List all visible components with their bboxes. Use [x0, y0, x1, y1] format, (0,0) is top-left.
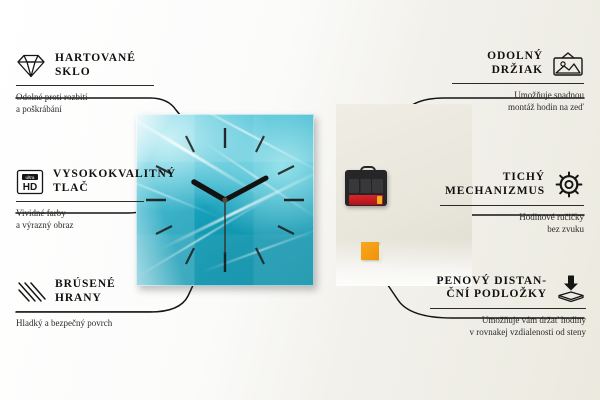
gear-icon — [554, 170, 584, 199]
feature-title-line-2: HRANY — [55, 292, 116, 306]
feature-desc-line-1: Umožňuje vám držať hodiny — [430, 314, 586, 326]
feature-title-line-1: TICHÝ — [445, 171, 545, 185]
svg-text:ultra: ultra — [26, 174, 35, 179]
feature-high-quality-print: ultra HD VYSOKOKVALITNÝ TLAČ Vividné far… — [16, 168, 144, 231]
mechanism-battery — [349, 195, 383, 205]
infographic-root: HARTOVANÉ SKLO Odolné proti rozbití a po… — [0, 0, 600, 400]
feature-divider — [16, 201, 144, 202]
ground-edges-icon — [16, 280, 46, 304]
foam-spacer-pad — [361, 242, 379, 260]
feature-divider — [430, 308, 586, 309]
feature-desc-line-1: Odolné proti rozbití — [16, 91, 154, 103]
feature-title-line-2: SKLO — [55, 66, 136, 80]
feature-desc-line-2: bez zvuku — [440, 223, 584, 235]
feature-ground-edges: BRÚSENÉ HRANY Hladký a bezpečný povrch — [16, 278, 152, 329]
diamond-icon — [16, 53, 46, 79]
mechanism-body — [345, 170, 387, 206]
picture-hanger-icon — [552, 51, 584, 77]
feature-divider — [452, 83, 584, 84]
clock-mechanism — [345, 166, 387, 206]
feature-desc-line-2: v rovnakej vzdialenosti od steny — [430, 326, 586, 338]
feature-title-line-2: DRŽIAK — [487, 64, 543, 78]
foam-spacer-icon — [556, 274, 586, 302]
feature-title-line-2: TLAČ — [53, 182, 176, 196]
svg-text:HD: HD — [23, 182, 37, 193]
feature-desc-line-2: a výrazný obraz — [16, 219, 144, 231]
product-photo — [136, 104, 472, 286]
feature-title-line-1: ODOLNÝ — [487, 50, 543, 64]
ultra-hd-icon: ultra HD — [16, 169, 44, 195]
feature-title-line-1: BRÚSENÉ — [55, 278, 116, 292]
feature-divider — [16, 311, 152, 312]
feature-desc-line-1: Vividné farby — [16, 207, 144, 219]
feature-desc-line-1: Hladký a bezpečný povrch — [16, 317, 152, 329]
feature-title-line-2: ČNÍ PODLOŽKY — [437, 288, 547, 302]
feature-divider — [440, 205, 584, 206]
glass-wall-clock — [136, 114, 314, 286]
feature-desc-line-2: montáž hodin na zeď — [452, 101, 584, 113]
feature-title-line-1: PENOVÝ DISTAN- — [437, 275, 547, 289]
feature-tempered-glass: HARTOVANÉ SKLO Odolné proti rozbití a po… — [16, 52, 154, 115]
feature-title-line-2: MECHANIZMUS — [445, 185, 545, 199]
feature-durable-hanger: ODOLNÝ DRŽIAK Umožňuje snadnou montáž ho… — [452, 50, 584, 113]
feature-silent-mechanism: TICHÝ MECHANIZMUS Hodinové ručičky bez z… — [440, 170, 584, 235]
feature-title-line-1: HARTOVANÉ — [55, 52, 136, 66]
feature-foam-spacers: PENOVÝ DISTAN- ČNÍ PODLOŽKY Umožňuje vám… — [430, 274, 586, 338]
feature-desc-line-1: Hodinové ručičky — [440, 211, 584, 223]
feature-divider — [16, 85, 154, 86]
feature-title-line-1: VYSOKOKVALITNÝ — [53, 168, 176, 182]
feature-desc-line-2: a poškrábání — [16, 103, 154, 115]
feature-desc-line-1: Umožňuje snadnou — [452, 89, 584, 101]
